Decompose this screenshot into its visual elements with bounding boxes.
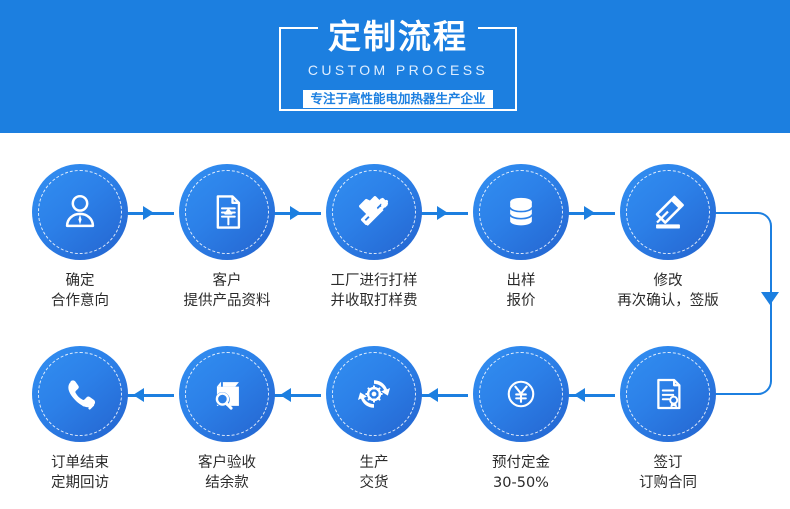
step-label-line1: 修改	[654, 273, 683, 289]
step-circle	[32, 346, 128, 442]
flow-step-production-delivery[interactable]: 生产 交货	[300, 346, 448, 493]
step-label: 预付定金 30-50%	[447, 453, 595, 493]
step-label-line2: 并收取打样费	[331, 293, 418, 309]
pencil-edit-icon	[646, 190, 690, 234]
header-tagline-wrap: 专注于高性能电加热器生产企业	[279, 89, 517, 109]
step-label-line1: 客户	[213, 273, 242, 289]
step-label: 签订 订购合同	[594, 453, 742, 493]
step-circle	[179, 346, 275, 442]
flow-diagram: 确定 合作意向 客户 提供产品资料	[0, 133, 790, 509]
step-label-line1: 签订	[654, 455, 683, 471]
flow-step-deposit-payment[interactable]: 预付定金 30-50%	[447, 346, 595, 493]
step-label-line1: 客户验收	[198, 455, 256, 471]
step-label-line1: 确定	[66, 273, 95, 289]
step-label-line2: 定期回访	[51, 475, 109, 491]
flow-step-confirm-intent[interactable]: 确定 合作意向	[6, 164, 154, 311]
step-label-line2: 提供产品资料	[184, 293, 271, 309]
step-label-line2: 结余款	[205, 475, 249, 491]
step-label-line1: 生产	[360, 455, 389, 471]
step-label: 确定 合作意向	[6, 271, 154, 311]
step-label-line1: 订单结束	[51, 455, 109, 471]
production-cycle-icon	[352, 372, 396, 416]
flow-step-sample-quote[interactable]: 出样 报价	[447, 164, 595, 311]
step-circle	[473, 346, 569, 442]
step-circle	[620, 346, 716, 442]
flow-step-sign-contract[interactable]: 签订 订购合同	[594, 346, 742, 493]
step-label: 客户验收 结余款	[153, 453, 301, 493]
step-label: 生产 交货	[300, 453, 448, 493]
page-title: 定制流程	[318, 14, 478, 60]
header-subtitle: CUSTOM PROCESS	[279, 62, 517, 78]
step-circle	[179, 164, 275, 260]
step-label-line1: 预付定金	[492, 455, 550, 471]
flow-step-customer-provides-info[interactable]: 客户 提供产品资料	[153, 164, 301, 311]
flow-step-revise-confirm[interactable]: 修改 再次确认，签版	[594, 164, 742, 311]
arrow-down-wraparound	[761, 292, 779, 305]
box-inspect-icon	[205, 372, 249, 416]
step-label-line1: 工厂进行打样	[331, 273, 418, 289]
step-circle	[32, 164, 128, 260]
step-label-line2: 交货	[360, 475, 389, 491]
step-circle	[473, 164, 569, 260]
step-label-line1: 出样	[507, 273, 536, 289]
header-title-wrap: 定制流程	[279, 14, 517, 60]
flow-step-customer-acceptance[interactable]: 客户验收 结余款	[153, 346, 301, 493]
flow-step-order-complete-followup[interactable]: 订单结束 定期回访	[6, 346, 154, 493]
user-person-icon	[57, 189, 103, 235]
header-banner: 定制流程 CUSTOM PROCESS 专注于高性能电加热器生产企业	[0, 0, 790, 133]
step-circle	[326, 346, 422, 442]
step-label-line2: 订购合同	[639, 475, 697, 491]
step-circle	[326, 164, 422, 260]
hammer-screwdriver-icon	[351, 189, 397, 235]
database-stack-icon	[501, 192, 541, 232]
step-label: 客户 提供产品资料	[153, 271, 301, 311]
step-label-line2: 再次确认，签版	[617, 293, 719, 309]
yen-coin-icon	[500, 373, 542, 415]
step-label: 工厂进行打样 并收取打样费	[300, 271, 448, 311]
step-label: 出样 报价	[447, 271, 595, 311]
step-label: 修改 再次确认，签版	[594, 271, 742, 311]
phone-callback-icon	[58, 372, 102, 416]
document-upload-icon	[205, 190, 249, 234]
step-label-line2: 30-50%	[493, 475, 549, 491]
step-circle	[620, 164, 716, 260]
step-label: 订单结束 定期回访	[6, 453, 154, 493]
custom-process-infographic: 定制流程 CUSTOM PROCESS 专注于高性能电加热器生产企业	[0, 0, 790, 509]
header-tagline: 专注于高性能电加热器生产企业	[303, 90, 492, 108]
contract-seal-icon	[647, 373, 689, 415]
flow-step-factory-sampling[interactable]: 工厂进行打样 并收取打样费	[300, 164, 448, 311]
step-label-line2: 报价	[507, 293, 536, 309]
step-label-line2: 合作意向	[51, 293, 109, 309]
